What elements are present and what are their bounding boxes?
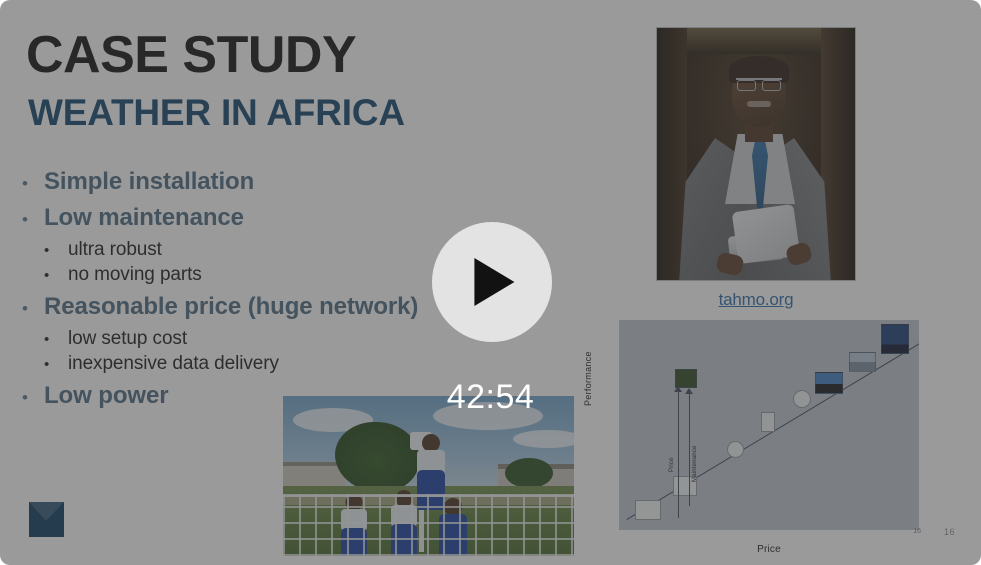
bullet-item: • Simple installation <box>22 168 492 196</box>
chart-page-number: 16 <box>913 528 921 535</box>
play-button[interactable] <box>432 222 552 342</box>
institution-logo <box>29 502 64 537</box>
bullet-item: • Reasonable price (huge network) <box>22 293 492 321</box>
bullet-marker-icon: • <box>22 211 44 228</box>
bullet-label: Low maintenance <box>44 204 244 232</box>
bullet-item: • inexpensive data delivery <box>22 353 492 375</box>
bullet-marker-icon: • <box>22 300 44 317</box>
field-cloud <box>513 430 574 448</box>
bullet-marker-icon: • <box>44 268 68 283</box>
bullet-marker-icon: • <box>22 175 44 192</box>
chart-point <box>881 324 909 354</box>
slide-title-sub: WEATHER IN AFRICA <box>28 94 405 133</box>
bullet-label: Reasonable price (huge network) <box>44 293 418 321</box>
slide-page-number: 16 <box>944 527 955 537</box>
bullet-label: low setup cost <box>68 328 187 350</box>
portrait-photo <box>656 27 856 281</box>
bullet-item: • ultra robust <box>22 239 492 261</box>
field-fence <box>283 494 574 556</box>
portrait-mustache <box>747 101 771 107</box>
field-photo <box>283 396 574 556</box>
chart-plot-area: Price Maintenance <box>619 320 919 530</box>
bullet-marker-icon: • <box>44 357 68 372</box>
video-duration: 42:54 <box>0 378 981 417</box>
chart-point <box>849 352 876 372</box>
chart-annotation-label-price: Price <box>669 457 675 472</box>
chart-x-axis-label: Price <box>619 544 919 555</box>
bullet-item: • no moving parts <box>22 264 492 286</box>
tahmo-link[interactable]: tahmo.org <box>656 290 856 310</box>
chart-point <box>727 441 744 458</box>
field-tree <box>505 458 553 488</box>
chart-annotation-label-maintenance: Maintenance <box>692 445 698 482</box>
bullet-label: inexpensive data delivery <box>68 353 279 375</box>
bullet-item: • Low maintenance <box>22 204 492 232</box>
bullet-label: no moving parts <box>68 264 202 286</box>
slide-title-main: CASE STUDY <box>26 28 356 82</box>
bullet-item: • low setup cost <box>22 328 492 350</box>
bullet-label: Simple installation <box>44 168 254 196</box>
glasses-icon <box>736 78 782 88</box>
video-player[interactable]: CASE STUDY WEATHER IN AFRICA • Simple in… <box>0 0 981 565</box>
price-performance-chart: Performance Price Ma <box>583 318 923 555</box>
bullet-marker-icon: • <box>44 243 68 258</box>
logo-chevron-icon <box>29 502 64 521</box>
play-triangle-icon <box>474 258 514 306</box>
bullet-marker-icon: • <box>44 332 68 347</box>
bullet-label: ultra robust <box>68 239 162 261</box>
chart-point <box>635 500 661 520</box>
